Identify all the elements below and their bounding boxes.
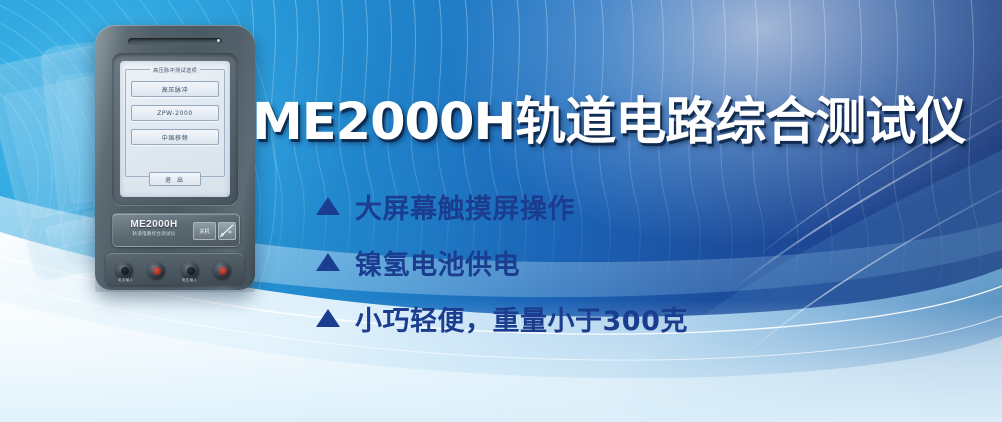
device-subtitle-label: 轨道电路综合测试仪	[121, 231, 187, 237]
device-indicator-dot	[217, 39, 220, 42]
device-screen-bezel: 高压脉冲测试选项 高压脉冲 ZPW-2000 中国移频 退 出	[112, 53, 238, 205]
device-port-bar: 电流输入 电压输入	[106, 253, 244, 285]
triangle-bullet-icon	[316, 253, 340, 271]
device-screen: 高压脉冲测试选项 高压脉冲 ZPW-2000 中国移频 退 出	[120, 61, 230, 197]
product-device-image: 高压脉冲测试选项 高压脉冲 ZPW-2000 中国移频 退 出 ME2000H …	[95, 25, 255, 290]
product-banner: 高压脉冲测试选项 高压脉冲 ZPW-2000 中国移频 退 出 ME2000H …	[0, 0, 1002, 422]
port-jack-current-positive[interactable]	[148, 262, 165, 279]
screen-header-label: 高压脉冲测试选项	[150, 67, 200, 74]
device-speaker-slot	[128, 38, 222, 45]
port-jack-voltage-negative[interactable]	[182, 262, 199, 279]
triangle-bullet-icon	[316, 197, 340, 215]
device-label-plate: ME2000H 轨道电路综合测试仪 关机	[112, 213, 240, 247]
feature-text: 小巧轻便，重量小于300克	[355, 299, 688, 338]
list-item: 小巧轻便，重量小于300克	[316, 290, 688, 346]
port-label-voltage: 电压输入	[182, 278, 197, 283]
page-title: ME2000H轨道电路综合测试仪	[252, 80, 965, 154]
device-power-off-button[interactable]: 关机	[193, 222, 216, 240]
feature-text: 镍氢电池供电	[355, 243, 520, 282]
waveform-logo-icon	[218, 222, 236, 240]
list-item: 镍氢电池供电	[316, 234, 688, 290]
feature-text: 大屏幕触摸屏操作	[355, 187, 575, 226]
triangle-bullet-icon	[316, 309, 340, 327]
screen-menu-button-hv-pulse[interactable]: 高压脉冲	[131, 81, 219, 97]
screen-menu-button-china-shift[interactable]: 中国移频	[131, 129, 219, 145]
device-brand-label: ME2000H	[121, 219, 187, 230]
screen-menu-button-zpw2000[interactable]: ZPW-2000	[131, 105, 219, 121]
screen-exit-button[interactable]: 退 出	[149, 172, 201, 186]
port-jack-current-negative[interactable]	[116, 262, 133, 279]
feature-list: 大屏幕触摸屏操作 镍氢电池供电 小巧轻便，重量小于300克	[316, 178, 688, 346]
port-label-current: 电流输入	[118, 278, 133, 283]
list-item: 大屏幕触摸屏操作	[316, 178, 688, 234]
port-jack-voltage-positive[interactable]	[214, 262, 231, 279]
